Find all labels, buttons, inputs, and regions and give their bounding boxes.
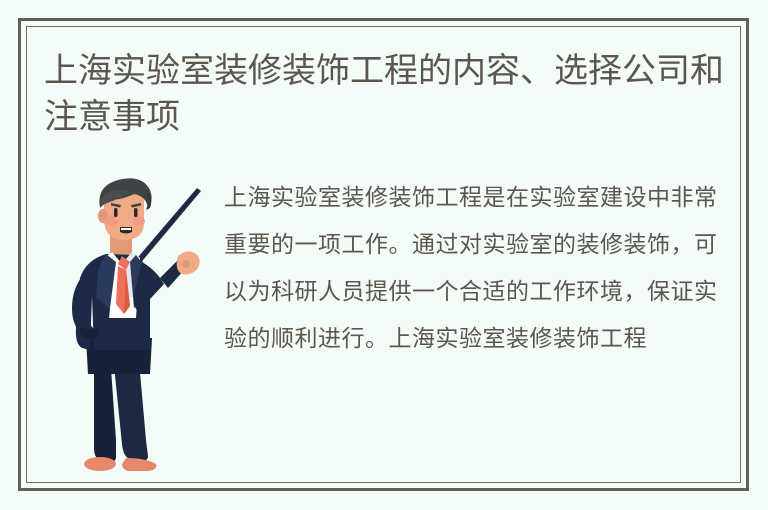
right-eye [134,208,138,217]
hand-thumb-shadow [182,260,190,268]
page-title: 上海实验室装修装饰工程的内容、选择公司和注意事项 [44,44,734,140]
teeth [121,228,131,230]
left-shoe [84,457,116,471]
businessman-with-pointer-icon [60,178,210,483]
left-cheek [104,216,118,226]
right-shoe [122,458,156,471]
card-content: 上海实验室装修装饰工程的内容、选择公司和注意事项 [44,44,734,468]
article-card: 上海实验室装修装饰工程的内容、选择公司和注意事项 [0,0,768,510]
illustration [44,170,224,482]
right-cheek [133,216,145,226]
mouth [120,227,132,234]
left-eye [114,208,118,217]
article-body: 上海实验室装修装饰工程是在实验室建设中非常重要的一项工作。通过对实验室的装修装饰… [224,170,734,362]
body-row: 上海实验室装修装饰工程是在实验室建设中非常重要的一项工作。通过对实验室的装修装饰… [44,170,734,482]
